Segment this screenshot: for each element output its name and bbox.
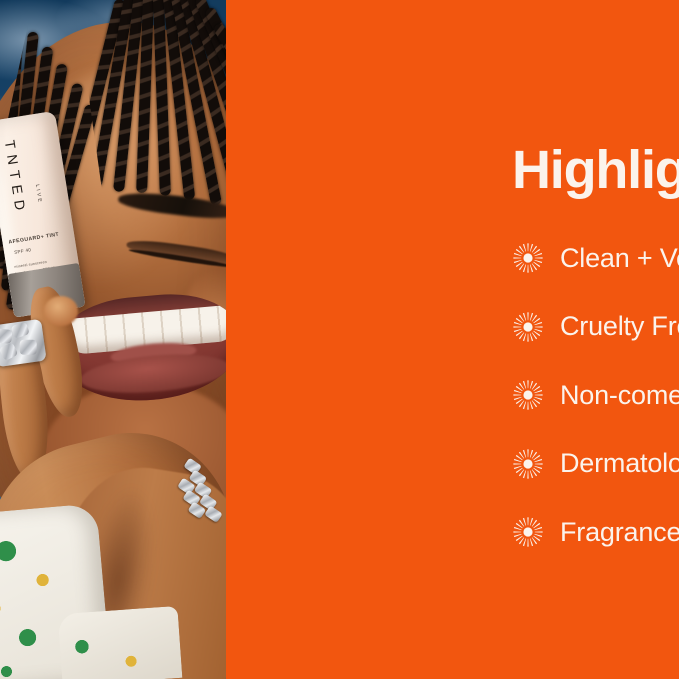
ring-gem <box>0 328 13 344</box>
highlight-label: Dermatologist Tested <box>560 450 679 477</box>
highlight-item-4: Dermatologist Tested <box>512 430 679 499</box>
highlight-item-5: Fragrance Free <box>512 498 679 567</box>
ring-gem <box>20 340 37 355</box>
highlight-label: Cruelty Free <box>560 313 679 340</box>
highlight-label: Non-comedogenic <box>560 382 679 409</box>
highlights-panel: Highlights <box>226 0 679 679</box>
tube-spf-text: SPF 40 <box>14 247 32 255</box>
sunburst-icon <box>512 242 544 274</box>
product-lifestyle-photo: TNTED LIVE AFEGUARD+ TINT SPF 40 mineral… <box>0 0 226 679</box>
product-highlights-banner: TNTED LIVE AFEGUARD+ TINT SPF 40 mineral… <box>0 0 679 679</box>
knuckle <box>44 296 78 326</box>
sunburst-icon <box>512 516 544 548</box>
highlights-list: Clean + Vegan <box>512 224 679 567</box>
tube-product-line-text: AFEGUARD+ TINT <box>8 232 59 246</box>
page-title: Highlights <box>512 141 679 200</box>
tube-brand-text: TNTED <box>3 139 29 217</box>
ring-gem <box>0 342 18 361</box>
highlight-item-1: Clean + Vegan <box>512 224 679 293</box>
sunburst-icon <box>512 379 544 411</box>
sunburst-icon <box>512 311 544 343</box>
highlight-label: Fragrance Free <box>560 519 679 546</box>
chain-link <box>204 505 223 523</box>
silver-ring <box>0 319 47 368</box>
ring-gem <box>11 322 30 339</box>
tube-subbrand-text: LIVE <box>34 184 43 204</box>
highlight-label: Clean + Vegan <box>560 245 679 272</box>
highlight-item-3: Non-comedogenic <box>512 361 679 430</box>
sunburst-icon <box>512 448 544 480</box>
patterned-shirt-lower <box>58 606 183 679</box>
highlight-item-2: Cruelty Free <box>512 293 679 362</box>
